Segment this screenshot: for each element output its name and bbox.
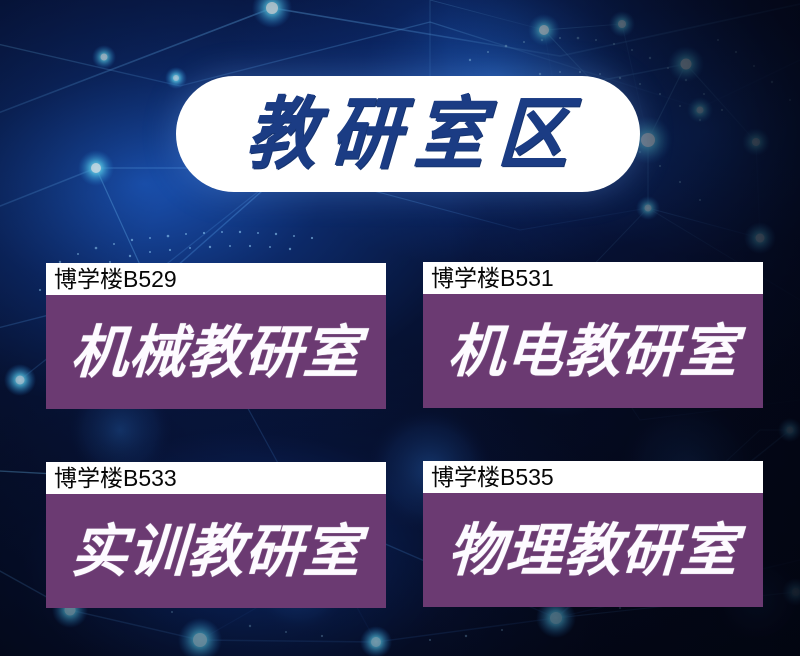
room-card-header: 博学楼B529 xyxy=(46,263,386,295)
room-code: 博学楼B531 xyxy=(431,267,554,290)
room-code: 博学楼B529 xyxy=(54,268,177,291)
room-card-header: 博学楼B531 xyxy=(423,262,763,294)
room-card-header: 博学楼B535 xyxy=(423,461,763,493)
room-card-body: 机械教研室 xyxy=(46,295,386,409)
poster-canvas: 教研室区 博学楼B529 机械教研室 博学楼B531 机电教研室 博学楼B533… xyxy=(0,0,800,656)
page-title-badge: 教研室区 xyxy=(176,76,640,192)
room-code: 博学楼B535 xyxy=(431,466,554,489)
room-name: 物理教研室 xyxy=(447,522,740,579)
room-card-b529[interactable]: 博学楼B529 机械教研室 xyxy=(46,263,386,409)
room-name: 机电教研室 xyxy=(447,323,740,380)
room-code: 博学楼B533 xyxy=(54,467,177,490)
room-card-b535[interactable]: 博学楼B535 物理教研室 xyxy=(423,461,763,607)
room-name: 实训教研室 xyxy=(70,523,363,580)
room-name: 机械教研室 xyxy=(70,324,363,381)
room-card-body: 物理教研室 xyxy=(423,493,763,607)
room-card-b533[interactable]: 博学楼B533 实训教研室 xyxy=(46,462,386,608)
room-card-header: 博学楼B533 xyxy=(46,462,386,494)
page-title: 教研室区 xyxy=(230,95,585,173)
room-card-body: 实训教研室 xyxy=(46,494,386,608)
room-card-body: 机电教研室 xyxy=(423,294,763,408)
room-card-b531[interactable]: 博学楼B531 机电教研室 xyxy=(423,262,763,408)
